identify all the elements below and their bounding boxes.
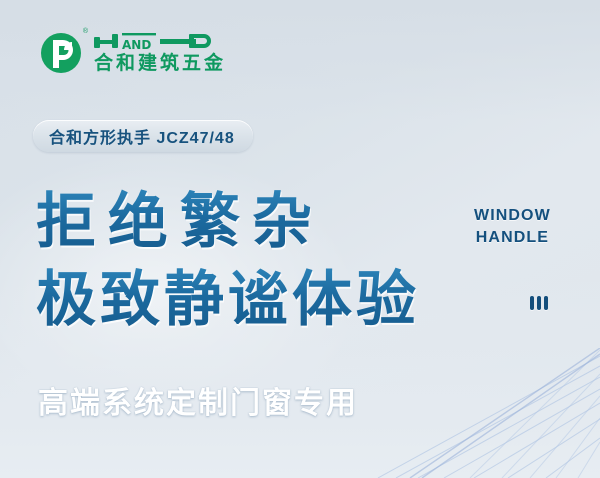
tagline: 高端系统定制门窗专用 xyxy=(38,378,358,422)
headline-line-1: 拒绝繁杂 xyxy=(36,183,506,261)
circular-p-logo-icon: ® xyxy=(40,26,86,76)
brand-name-cn: 合和建筑五金 xyxy=(94,54,226,73)
headline: 拒绝繁杂 极致静谧体验 xyxy=(36,183,506,339)
trademark-symbol: ® xyxy=(83,28,88,35)
english-label: WINDOW HANDLE xyxy=(474,205,551,249)
product-tag: 合和方形执手 JCZ47/48 xyxy=(33,120,253,152)
perspective-grid-mesh-icon xyxy=(370,348,600,478)
english-label-line-1: WINDOW xyxy=(474,205,551,227)
svg-text:AND: AND xyxy=(122,38,151,52)
brand-logotype: AND 合和建筑五金 xyxy=(94,30,226,73)
headline-line-2: 极致静谧体验 xyxy=(36,261,506,339)
bar-3 xyxy=(544,296,548,310)
brand-logo: ® AND 合和建筑五金 xyxy=(40,26,226,76)
hand-p-wordmark-icon: AND xyxy=(94,30,222,52)
bar-2 xyxy=(537,296,541,310)
promo-banner: ® AND 合和建筑五金 合和方形执手 JCZ47/48 拒绝繁杂 极致静谧体验 xyxy=(0,0,600,478)
bar-1 xyxy=(530,296,534,310)
three-vertical-bars-icon xyxy=(530,296,548,310)
english-label-line-2: HANDLE xyxy=(474,227,551,249)
